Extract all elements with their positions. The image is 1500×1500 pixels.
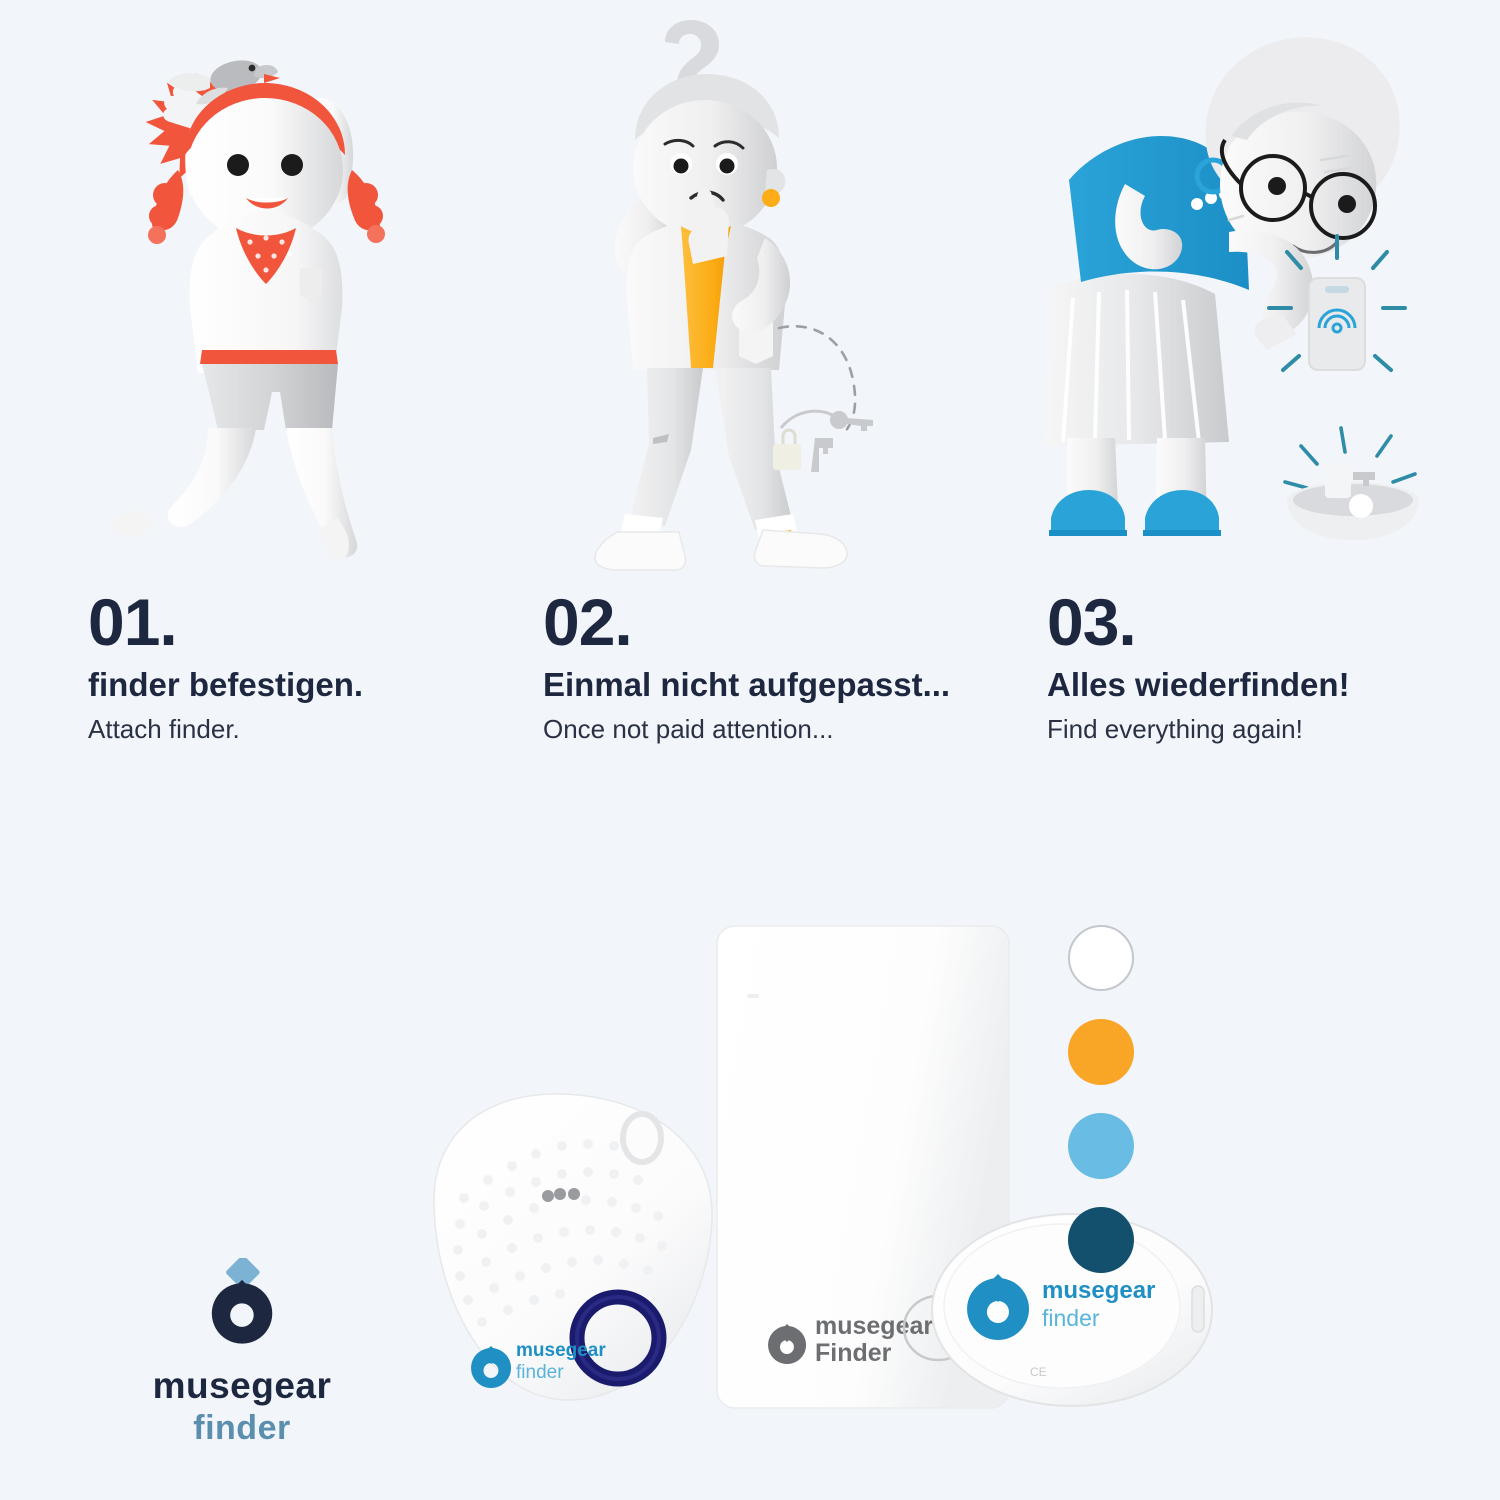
brand-product: finder	[92, 1409, 392, 1448]
swatch-light-blue[interactable]	[1068, 1113, 1134, 1179]
product-infographic-page: 01. finder befestigen. Attach finder.	[0, 0, 1500, 1500]
square-logo-top: musegear	[516, 1340, 606, 1361]
step-03-text: 03. Alles wiederfinden! Find everything …	[1047, 592, 1350, 745]
brand-logo: musegear finder	[92, 1258, 392, 1448]
step-number: 03.	[1047, 592, 1350, 653]
illustration-girl-holding-bird-finder	[60, 20, 490, 580]
step-01-text: 01. finder befestigen. Attach finder.	[88, 592, 363, 745]
color-swatch-list	[1068, 925, 1152, 1301]
card-logo-top: musegear	[815, 1312, 933, 1340]
step-subtitle-en: Find everything again!	[1047, 713, 1350, 746]
swatch-white[interactable]	[1068, 925, 1134, 991]
step-01: 01. finder befestigen. Attach finder.	[60, 0, 490, 800]
products-section: musegear finder musegear Finder	[0, 860, 1500, 1500]
brand-name: musegear	[92, 1365, 392, 1407]
steps-section: 01. finder befestigen. Attach finder.	[0, 0, 1500, 800]
step-title-de: finder befestigen.	[88, 664, 363, 705]
step-number: 02.	[543, 592, 950, 653]
illustration-woman-with-phone	[1025, 20, 1465, 580]
step-title-de: Alles wiederfinden!	[1047, 664, 1350, 705]
swatch-orange[interactable]	[1068, 1019, 1134, 1085]
illustration-man-dropping-keys	[515, 20, 995, 580]
step-03: 03. Alles wiederfinden! Find everything …	[1025, 0, 1465, 800]
step-02: 02. Einmal nicht aufgepasst... Once not …	[515, 0, 995, 800]
oval-logo-bottom: finder	[1042, 1305, 1100, 1331]
card-logo-bottom: Finder	[815, 1339, 892, 1367]
product-square-finder[interactable]: musegear finder	[420, 1088, 725, 1408]
swatch-dark-teal[interactable]	[1068, 1207, 1134, 1273]
musegear-ring-diamond-logo-icon	[200, 1258, 284, 1355]
falling-keys-icon	[773, 411, 873, 472]
step-subtitle-en: Attach finder.	[88, 713, 363, 746]
ce-marking: CE	[1030, 1365, 1047, 1379]
step-title-de: Einmal nicht aufgepasst...	[543, 664, 950, 705]
bowl-with-finder-icon	[1285, 428, 1419, 540]
step-number: 01.	[88, 592, 363, 653]
step-subtitle-en: Once not paid attention...	[543, 713, 950, 746]
square-logo-bottom: finder	[516, 1362, 564, 1383]
step-02-text: 02. Einmal nicht aufgepasst... Once not …	[543, 592, 950, 745]
